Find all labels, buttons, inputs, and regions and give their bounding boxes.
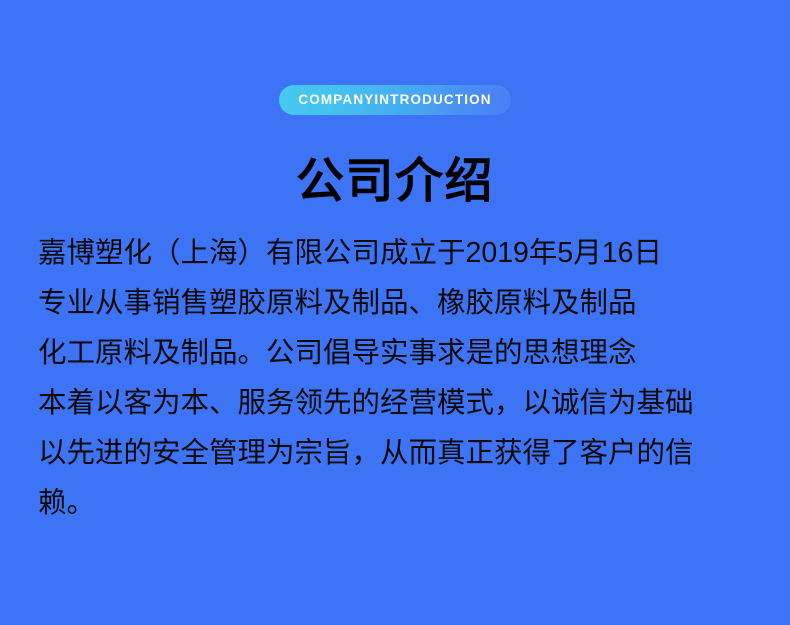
company-introduction-banner: COMPANYINTRODUCTION 公司介绍 嘉博塑化（上海）有限公司成立于… (0, 0, 790, 625)
badge-container: COMPANYINTRODUCTION (0, 85, 790, 115)
paragraph-line: 以先进的安全管理为宗旨，从而真正获得了客户的信 (38, 428, 778, 478)
paragraph-line: 专业从事销售塑胶原料及制品、橡胶原料及制品 (38, 278, 778, 328)
company-description: 嘉博塑化（上海）有限公司成立于2019年5月16日 专业从事销售塑胶原料及制品、… (38, 228, 778, 528)
paragraph-line: 赖。 (38, 478, 778, 528)
paragraph-line: 化工原料及制品。公司倡导实事求是的思想理念 (38, 328, 778, 378)
page-title: 公司介绍 (296, 154, 494, 210)
title-container: 公司介绍 (0, 122, 790, 242)
section-eyebrow-badge: COMPANYINTRODUCTION (279, 85, 510, 115)
paragraph-line: 嘉博塑化（上海）有限公司成立于2019年5月16日 (38, 228, 778, 278)
paragraph-line: 本着以客为本、服务领先的经营模式，以诚信为基础 (38, 378, 778, 428)
